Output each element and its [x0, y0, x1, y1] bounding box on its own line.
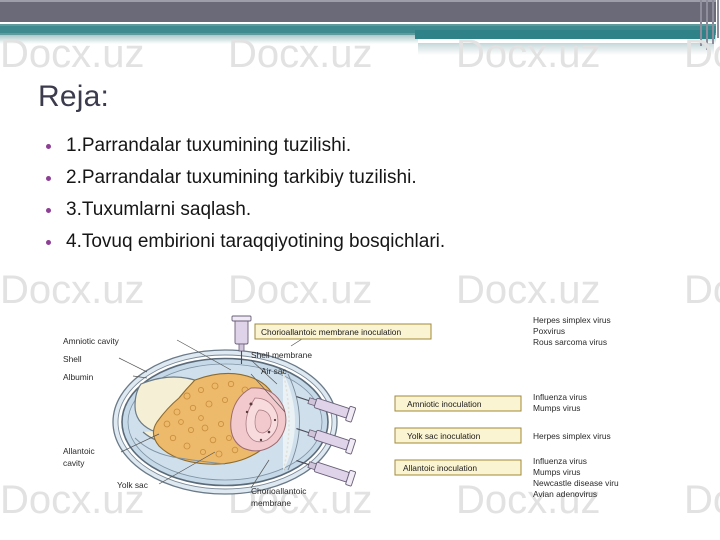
leader-shell — [119, 358, 147, 372]
list-item-label: 3.Tuxumlarni saqlash. — [66, 199, 251, 220]
list-item-label: 1.Parrandalar tuxumining tuzilishi. — [66, 135, 351, 156]
virus-list-yolk-sac: Herpes simplex virus — [533, 431, 611, 441]
virus-list-allantoic: Influenza virus Mumps virus Newcastle di… — [533, 456, 619, 499]
header-teal-dark-bar — [0, 26, 716, 33]
slide-header-decoration — [0, 0, 720, 58]
label-amniotic-cavity: Amniotic cavity — [63, 336, 120, 346]
list-item-label: 4.Tovuq embirioni taraqqiyotining bosqic… — [66, 231, 445, 252]
list-item: 4.Tovuq embirioni taraqqiyotining bosqic… — [40, 232, 700, 251]
inoculation-box-chorioallantoic: Chorioallantoic membrane inoculation — [255, 324, 431, 339]
virus-name: Influenza virus — [533, 456, 587, 466]
header-tick-2 — [706, 0, 708, 50]
label-shell-membrane: Shell membrane — [251, 350, 312, 360]
inoculation-box-yolk-sac: Yolk sac inoculation — [395, 428, 521, 443]
bullet-dot-icon — [46, 176, 51, 181]
bullet-dot-icon — [46, 144, 51, 149]
virus-name: Herpes simplex virus — [533, 315, 611, 325]
virus-name: Newcastle disease viru — [533, 478, 619, 488]
watermark-text: Docx.uz — [228, 268, 456, 313]
header-tick-4 — [717, 0, 719, 38]
watermark-text: Docx.uz — [684, 268, 720, 313]
header-tick-1 — [700, 0, 702, 46]
list-item-label: 2.Parrandalar tuxumining tarkibiy tuzili… — [66, 167, 417, 188]
inoculation-box-label: Amniotic inoculation — [407, 399, 482, 409]
label-allantoic-cavity-line1: Allantoic — [63, 446, 95, 456]
watermark-text: Docx.uz — [684, 32, 720, 77]
label-allantoic-cavity-line2: cavity — [63, 458, 85, 468]
virus-name: Avian adenovirus — [533, 489, 597, 499]
watermark-text: Docx.uz — [228, 32, 456, 77]
label-chorioallantoic-membrane-line1: Chorioallantoic — [251, 486, 306, 496]
bullet-dot-icon — [46, 208, 51, 213]
page-title: Reja: — [38, 80, 109, 114]
virus-name: Herpes simplex virus — [533, 431, 611, 441]
label-shell: Shell — [63, 354, 82, 364]
virus-name: Influenza virus — [533, 392, 587, 402]
list-item: 1.Parrandalar tuxumining tuzilishi. — [40, 136, 700, 155]
inoculation-box-label: Chorioallantoic membrane inoculation — [261, 327, 401, 337]
watermark-text: Docx.uz — [456, 268, 684, 313]
list-item: 3.Tuxumlarni saqlash. — [40, 200, 700, 219]
header-teal-accent — [415, 30, 715, 39]
inoculation-box-amniotic: Amniotic inoculation — [395, 396, 521, 411]
egg-inoculation-diagram: .lbl { font-family: "Liberation Sans", s… — [55, 312, 703, 527]
inoculation-box-label: Allantoic inoculation — [403, 463, 477, 473]
label-yolk-sac: Yolk sac — [117, 480, 148, 490]
header-fade-band — [0, 35, 716, 44]
header-dark-bar — [0, 2, 716, 22]
header-top-edge — [0, 0, 716, 2]
watermark-row-middle: Docx.uzDocx.uzDocx.uzDocx.uz — [0, 268, 720, 313]
watermark-text: Docx.uz — [0, 32, 228, 77]
virus-list-amniotic: Influenza virus Mumps virus — [533, 392, 587, 413]
bullet-dot-icon — [46, 240, 51, 245]
virus-list-chorioallantoic: Herpes simplex virus Poxvirus Rous sarco… — [533, 315, 611, 347]
header-teal-bar — [0, 24, 716, 35]
header-white-underline — [418, 39, 700, 43]
virus-name: Poxvirus — [533, 326, 565, 336]
virus-name: Mumps virus — [533, 467, 580, 477]
watermark-row-top: Docx.uzDocx.uzDocx.uzDocx.uz — [0, 32, 720, 77]
header-tick-3 — [712, 0, 714, 44]
virus-name: Mumps virus — [533, 403, 580, 413]
inoculation-box-allantoic: Allantoic inoculation — [395, 460, 521, 475]
virus-name: Rous sarcoma virus — [533, 337, 607, 347]
label-albumin: Albumin — [63, 372, 94, 382]
watermark-text: Docx.uz — [456, 32, 684, 77]
header-right-fade — [418, 43, 714, 55]
watermark-text: Docx.uz — [0, 268, 228, 313]
label-chorioallantoic-membrane-line2: membrane — [251, 498, 291, 508]
label-air-sac: Air sac — [261, 366, 287, 376]
list-item: 2.Parrandalar tuxumining tarkibiy tuzili… — [40, 168, 700, 187]
inoculation-box-label: Yolk sac inoculation — [407, 431, 481, 441]
agenda-list: 1.Parrandalar tuxumining tuzilishi. 2.Pa… — [40, 136, 700, 264]
